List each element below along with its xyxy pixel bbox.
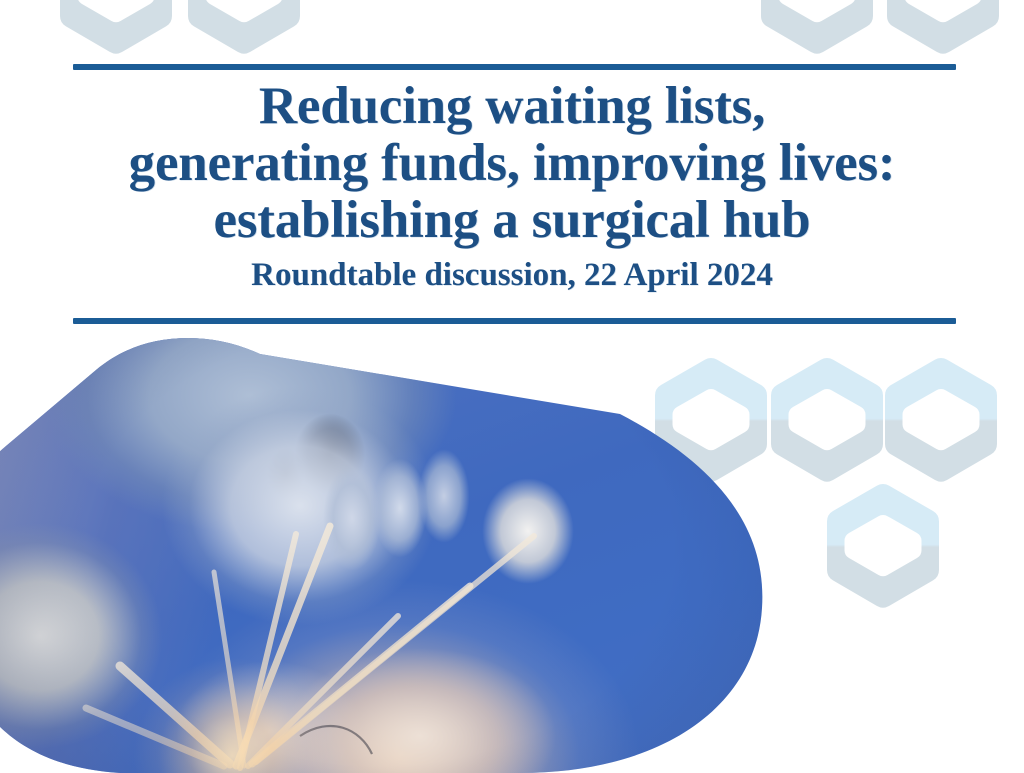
hexagon-decoration-cluster-3 <box>882 356 1000 484</box>
hexagon-decoration-top-right-1 <box>758 0 876 56</box>
title-rule-top <box>73 64 956 70</box>
hexagon-decoration-cluster-2 <box>768 356 886 484</box>
report-cover-page: Reducing waiting lists, generating funds… <box>0 0 1024 773</box>
title-rule-bottom <box>73 318 956 324</box>
page-subtitle: Roundtable discussion, 22 April 2024 <box>40 257 984 293</box>
hexagon-decoration-cluster-4 <box>824 482 942 610</box>
page-title-line-2: generating funds, improving lives: <box>40 135 984 192</box>
hexagon-decoration-top-left-2 <box>185 0 303 56</box>
hexagon-decoration-top-left-1 <box>57 0 175 56</box>
surgery-photograph <box>0 336 770 773</box>
page-title-line-3: establishing a surgical hub <box>40 192 984 249</box>
page-title: Reducing waiting lists, generating funds… <box>40 78 984 250</box>
hexagon-decoration-top-right-2 <box>884 0 1002 56</box>
page-title-line-1: Reducing waiting lists, <box>40 78 984 135</box>
photo-layer-vignette <box>0 336 770 773</box>
title-block: Reducing waiting lists, generating funds… <box>40 78 984 293</box>
